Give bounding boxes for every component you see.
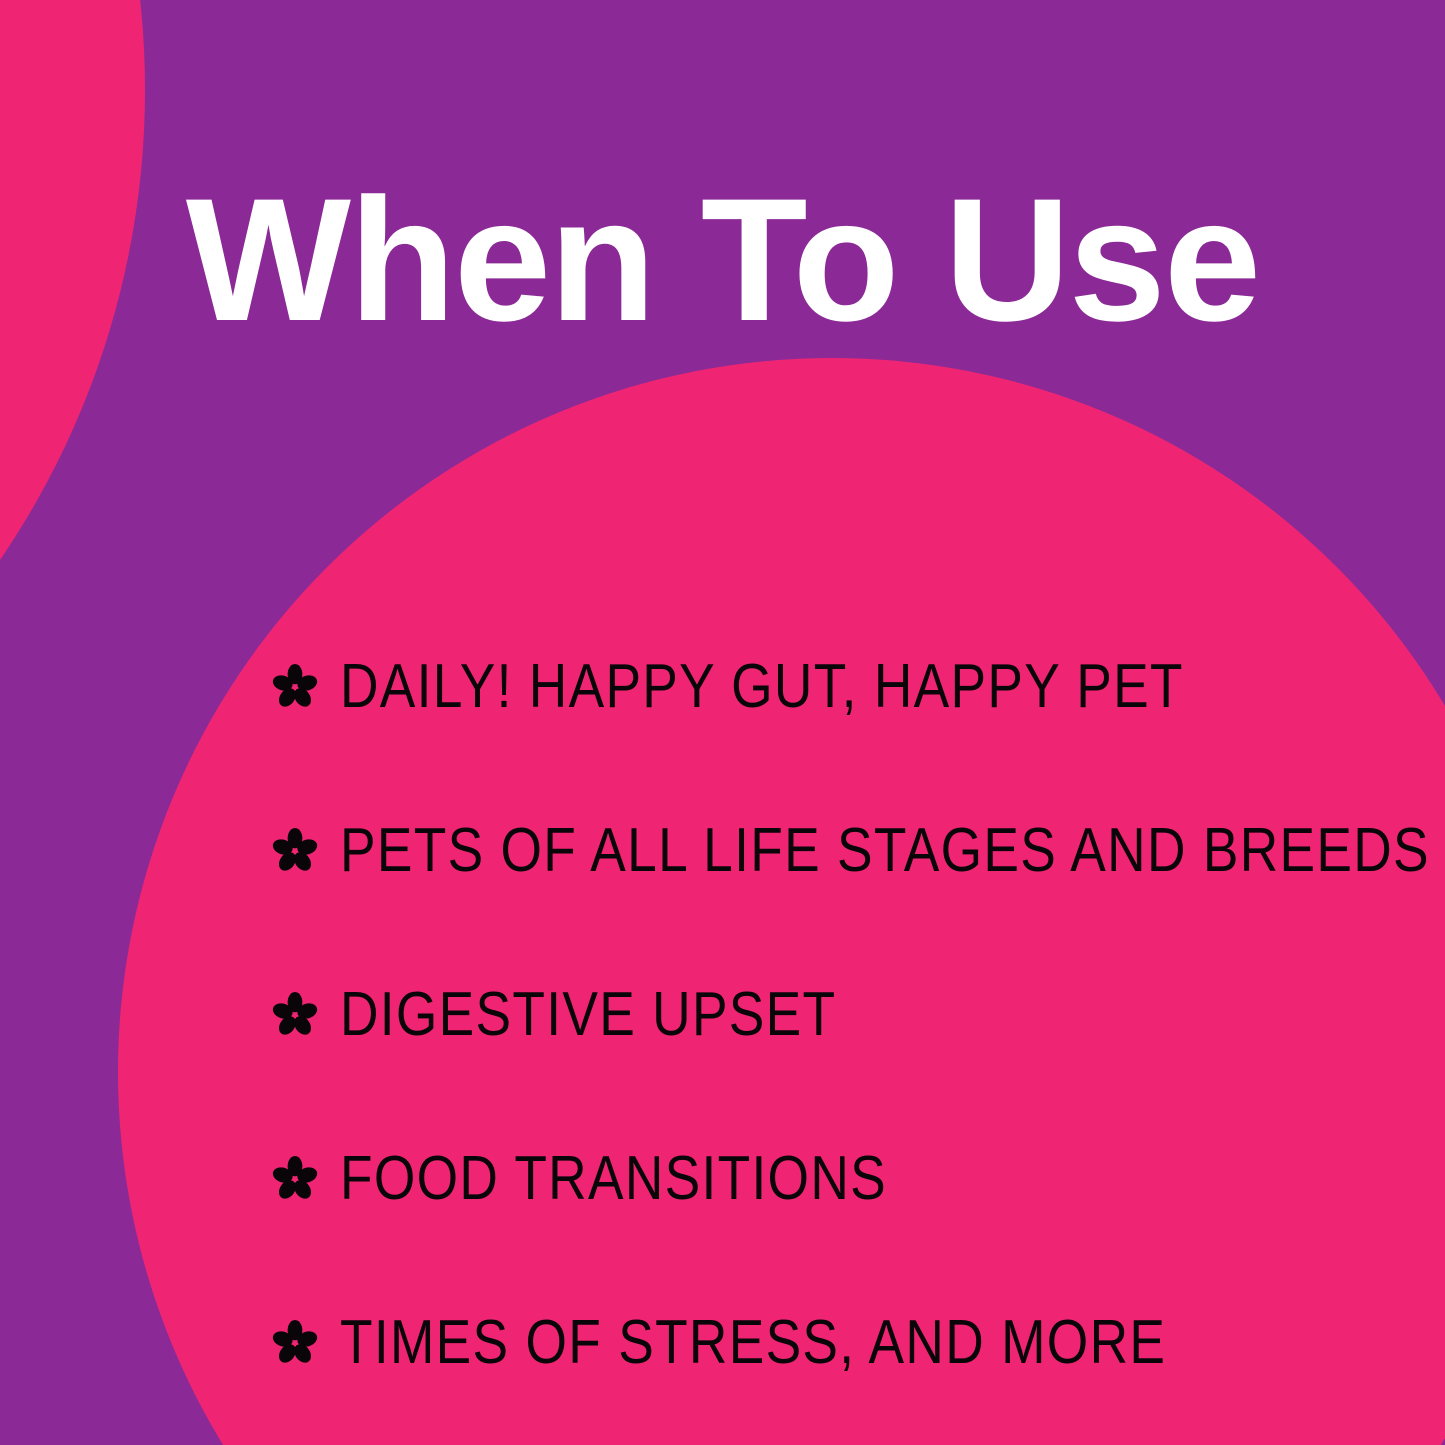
- flower-bullet-icon: [272, 992, 318, 1038]
- list-item-label: DAILY! HAPPY GUT, HAPPY PET: [340, 656, 1184, 718]
- when-to-use-poster: When To Use DAILY! HAPPY GUT, HAPPY PET: [0, 0, 1445, 1445]
- usage-bullet-list: DAILY! HAPPY GUT, HAPPY PET PETS OF ALL …: [272, 646, 1392, 1384]
- list-item: FOOD TRANSITIONS: [272, 1138, 1392, 1220]
- list-item: TIMES OF STRESS, AND MORE: [272, 1302, 1392, 1384]
- list-item: DIGESTIVE UPSET: [272, 974, 1392, 1056]
- list-item: PETS OF ALL LIFE STAGES AND BREEDS: [272, 810, 1392, 892]
- list-item-label: TIMES OF STRESS, AND MORE: [340, 1312, 1166, 1374]
- flower-bullet-icon: [272, 1320, 318, 1366]
- list-item-label: FOOD TRANSITIONS: [340, 1148, 887, 1210]
- list-item-label: PETS OF ALL LIFE STAGES AND BREEDS: [340, 820, 1430, 882]
- flower-bullet-icon: [272, 828, 318, 874]
- flower-bullet-icon: [272, 664, 318, 710]
- list-item-label: DIGESTIVE UPSET: [340, 984, 836, 1046]
- flower-bullet-icon: [272, 1156, 318, 1202]
- poster-content: When To Use DAILY! HAPPY GUT, HAPPY PET: [0, 0, 1445, 1445]
- list-item: DAILY! HAPPY GUT, HAPPY PET: [272, 646, 1392, 728]
- page-title: When To Use: [0, 169, 1445, 353]
